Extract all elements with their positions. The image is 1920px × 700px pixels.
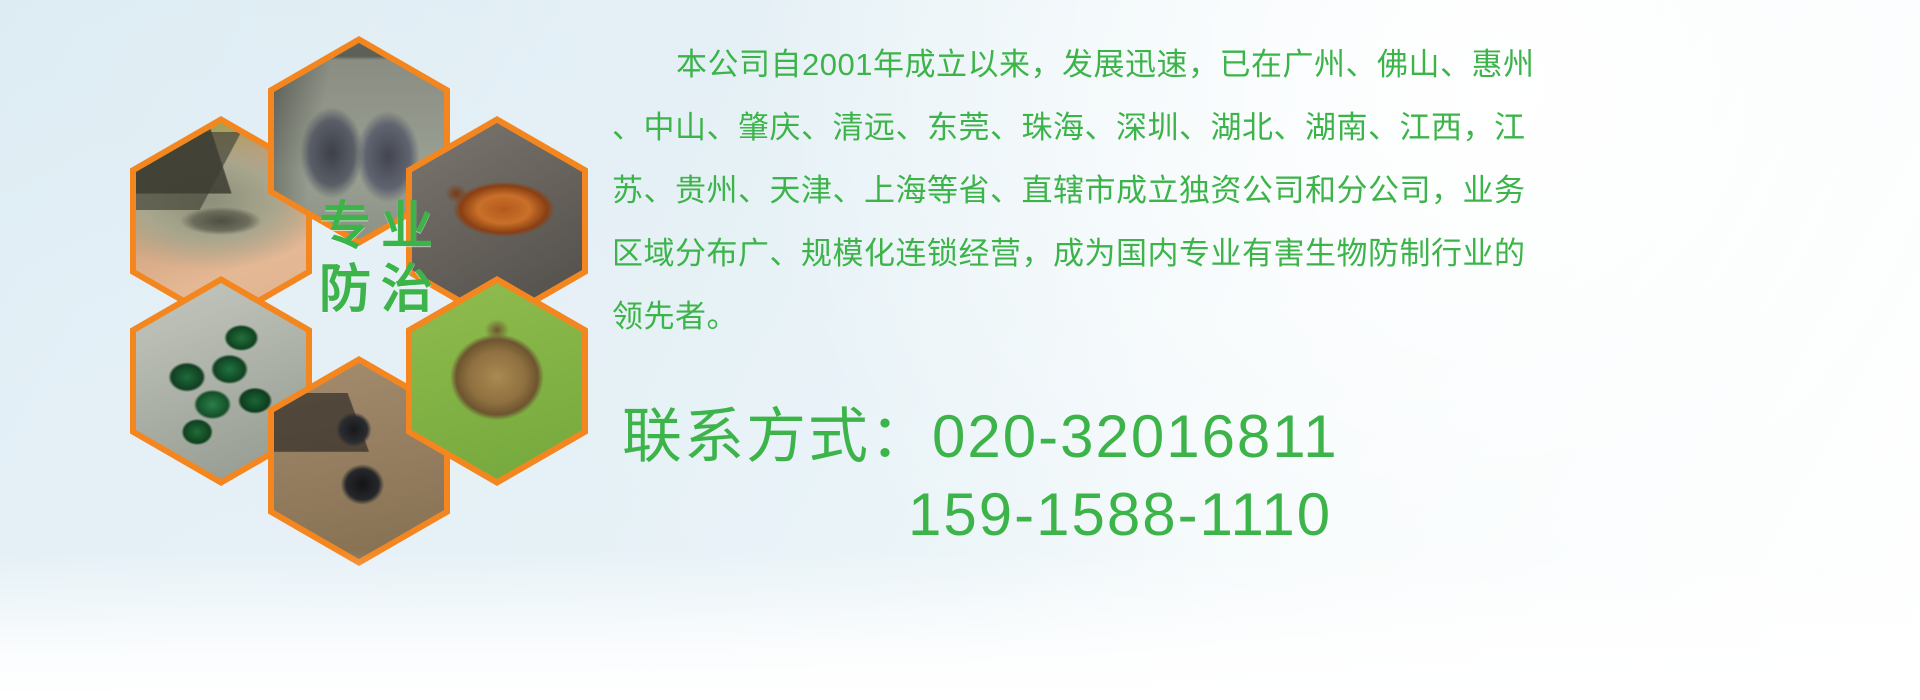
- contact-primary-line: 联系方式：020-32016811: [622, 398, 1872, 476]
- company-intro-block: 本公司自2001年成立以来，发展迅速，已在广州、佛山、惠州 、中山、肇庆、清远、…: [612, 36, 1902, 351]
- intro-line: 区域分布广、规模化连锁经营，成为国内专业有害生物防制行业的: [612, 225, 1902, 282]
- promo-banner: 专业 防治 本公司自2001年成立以来，发展迅速，已在广州、佛山、惠州 、中山、…: [0, 0, 1920, 700]
- hex-center-slogan: 专业 防治: [281, 196, 471, 323]
- intro-line: 、中山、肇庆、清远、东莞、珠海、深圳、湖北、湖南、江西，江: [612, 99, 1902, 156]
- intro-line: 本公司自2001年成立以来，发展迅速，已在广州、佛山、惠州: [612, 36, 1902, 93]
- contact-label: 联系方式：: [622, 403, 932, 470]
- intro-line: 领先者。: [612, 288, 1902, 345]
- hex-slogan-line-1: 专业: [281, 196, 471, 259]
- hexagon-image-cluster: 专业 防治: [95, 8, 585, 558]
- hex-slogan-line-2: 防治: [281, 259, 471, 322]
- phone-primary[interactable]: 020-32016811: [932, 403, 1339, 470]
- intro-line: 苏、贵州、天津、上海等省、直辖市成立独资公司和分公司，业务: [612, 162, 1902, 219]
- company-intro-paragraph: 本公司自2001年成立以来，发展迅速，已在广州、佛山、惠州 、中山、肇庆、清远、…: [612, 36, 1902, 345]
- phone-secondary[interactable]: 159-1588-1110: [622, 476, 1872, 554]
- contact-block: 联系方式：020-32016811 159-1588-1110: [622, 398, 1872, 554]
